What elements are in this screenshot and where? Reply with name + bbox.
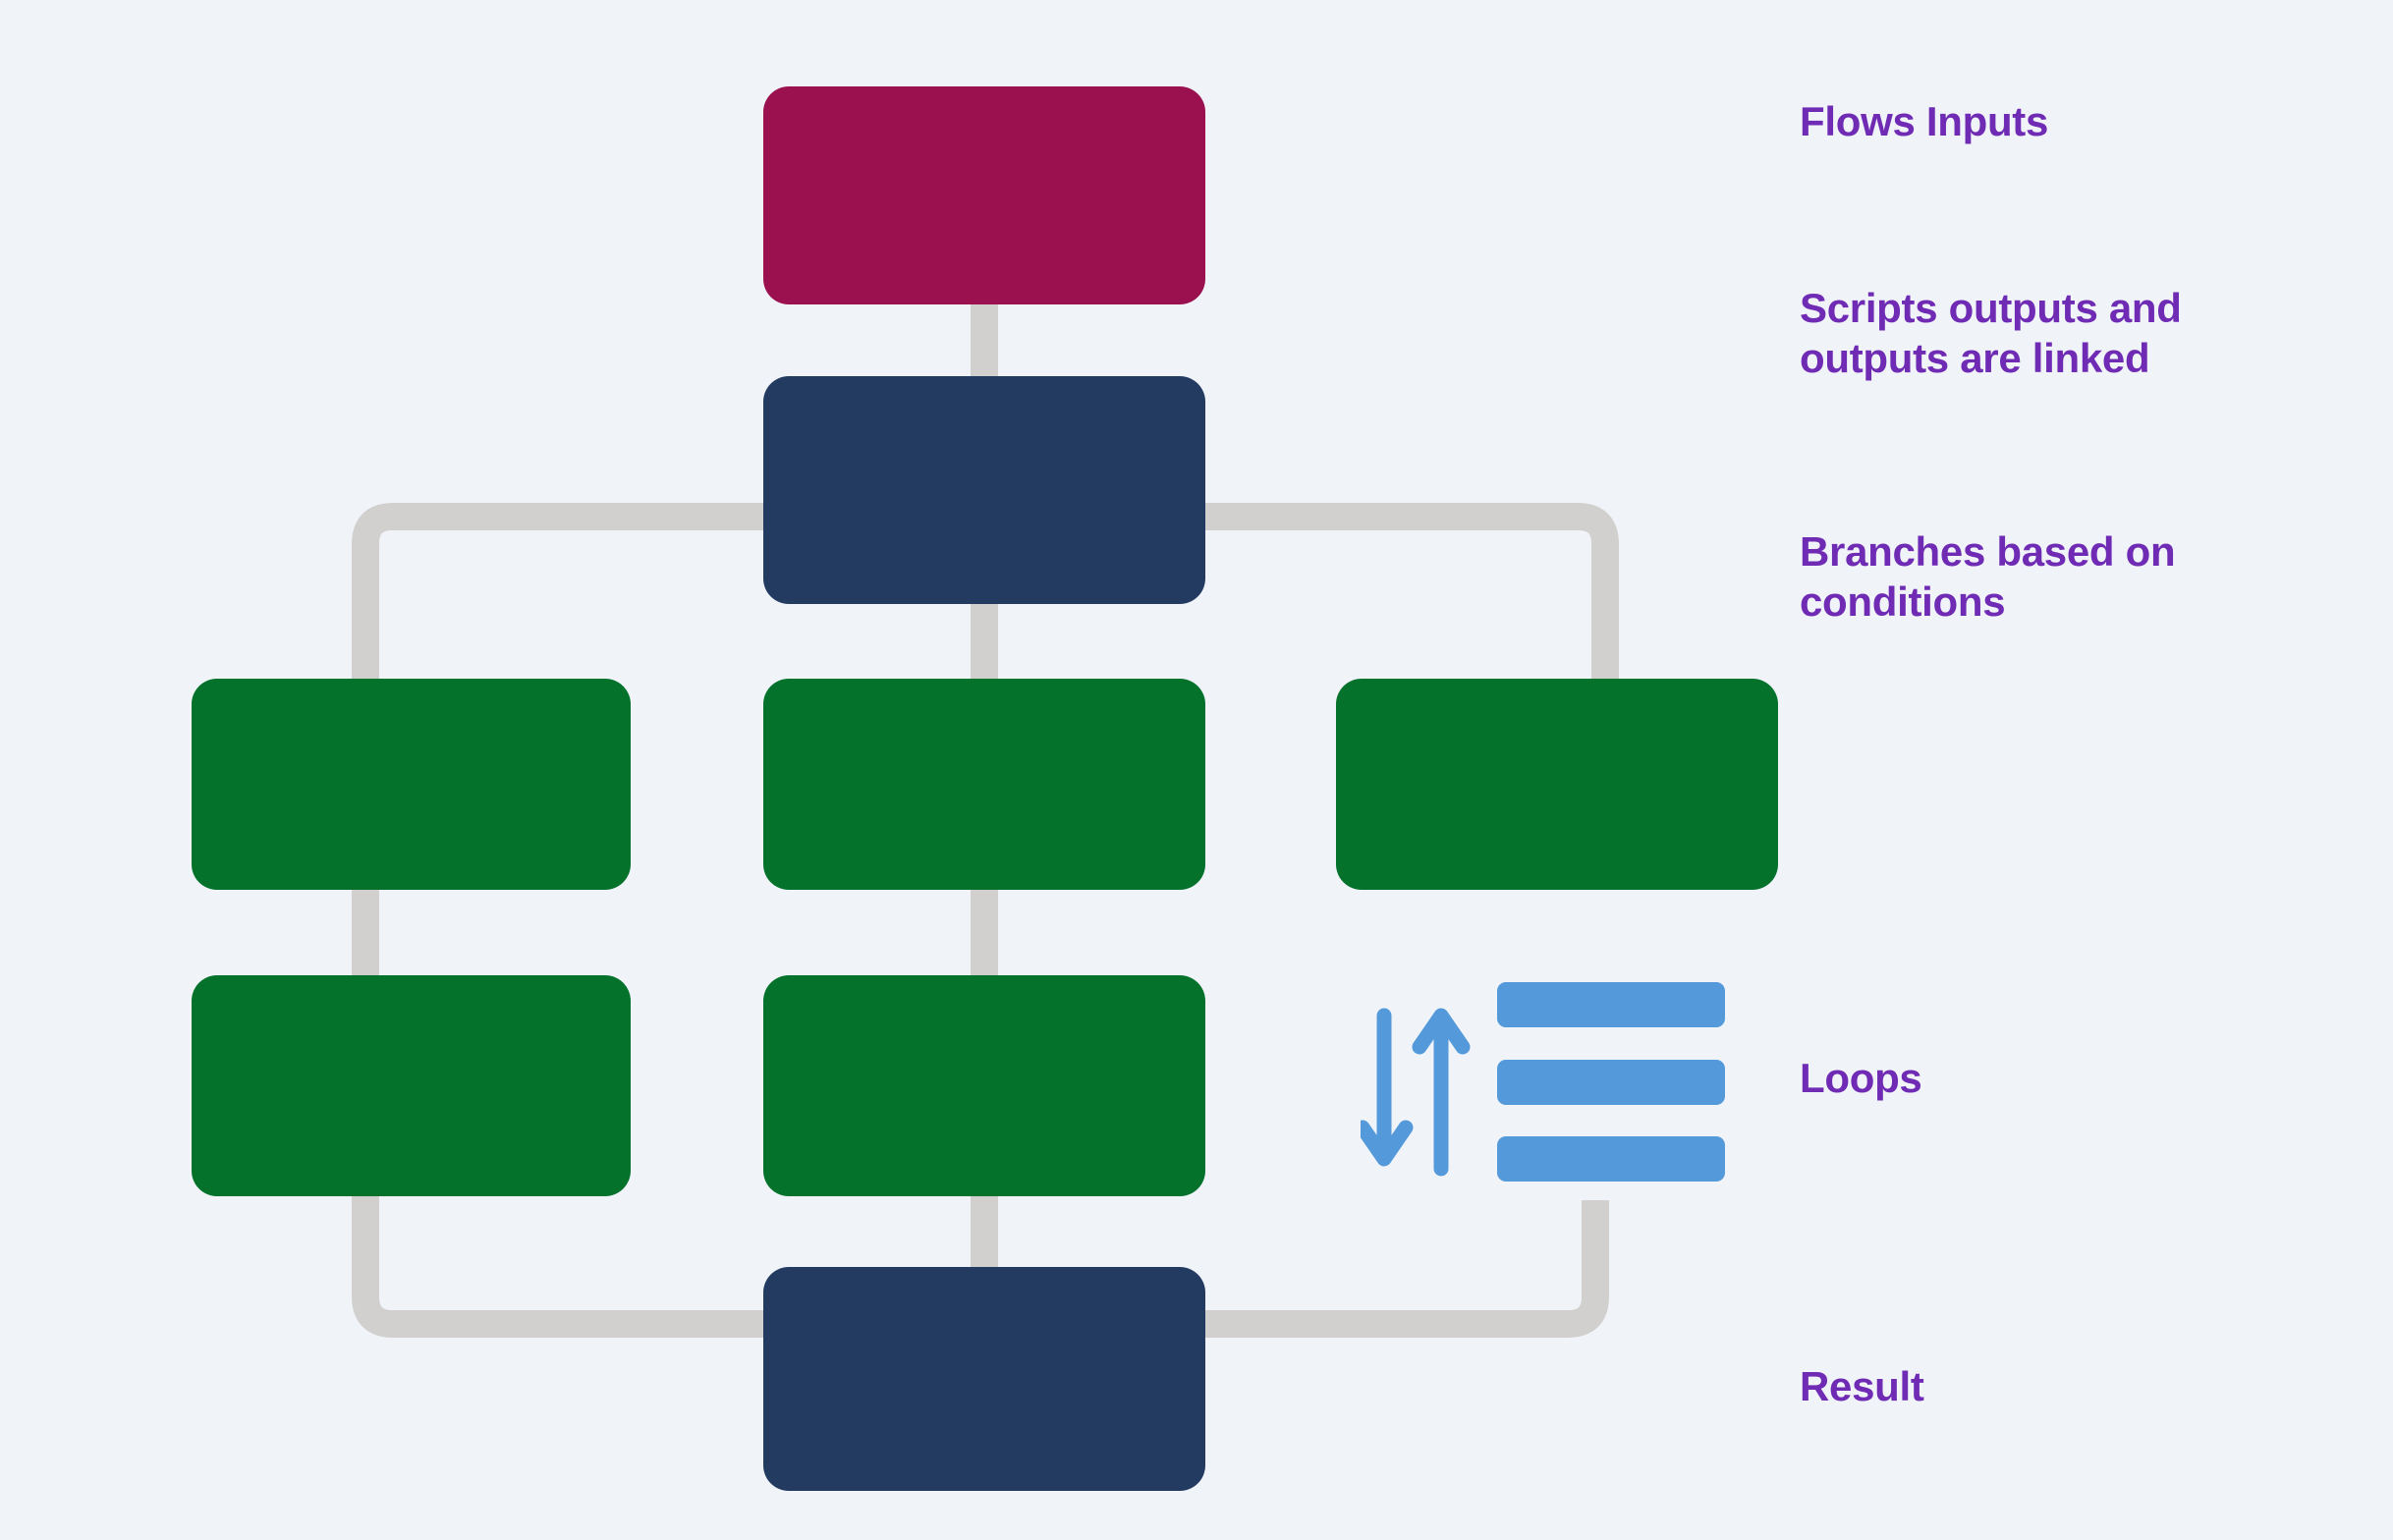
- node-branch-right[interactable]: [1336, 679, 1778, 890]
- loop-bar-1[interactable]: [1497, 982, 1725, 1027]
- node-result[interactable]: [763, 1267, 1205, 1491]
- loop-bar-2[interactable]: [1497, 1060, 1725, 1105]
- label-loops: Loops: [1800, 1053, 1921, 1103]
- node-flows-inputs[interactable]: [763, 86, 1205, 304]
- node-branch-middle[interactable]: [763, 679, 1205, 890]
- loop-arrows-icon: [1361, 1000, 1478, 1186]
- label-scripts-linked: Scripts outputs and outputs are linked: [1800, 283, 2182, 383]
- connector-loop-return: [1193, 1200, 1595, 1324]
- node-script[interactable]: [763, 376, 1205, 604]
- loop-bar-3[interactable]: [1497, 1136, 1725, 1182]
- node-step-middle[interactable]: [763, 975, 1205, 1196]
- diagram-canvas: Flows Inputs Scripts outputs and outputs…: [0, 0, 2393, 1540]
- node-branch-left[interactable]: [192, 679, 631, 890]
- node-step-left[interactable]: [192, 975, 631, 1196]
- connector-left-return: [365, 1186, 776, 1324]
- connector-script-to-right: [1193, 517, 1605, 691]
- label-branches: Branches based on conditions: [1800, 526, 2175, 627]
- label-result: Result: [1800, 1361, 1924, 1411]
- connector-script-to-left: [365, 517, 776, 691]
- label-flows-inputs: Flows Inputs: [1800, 96, 2048, 146]
